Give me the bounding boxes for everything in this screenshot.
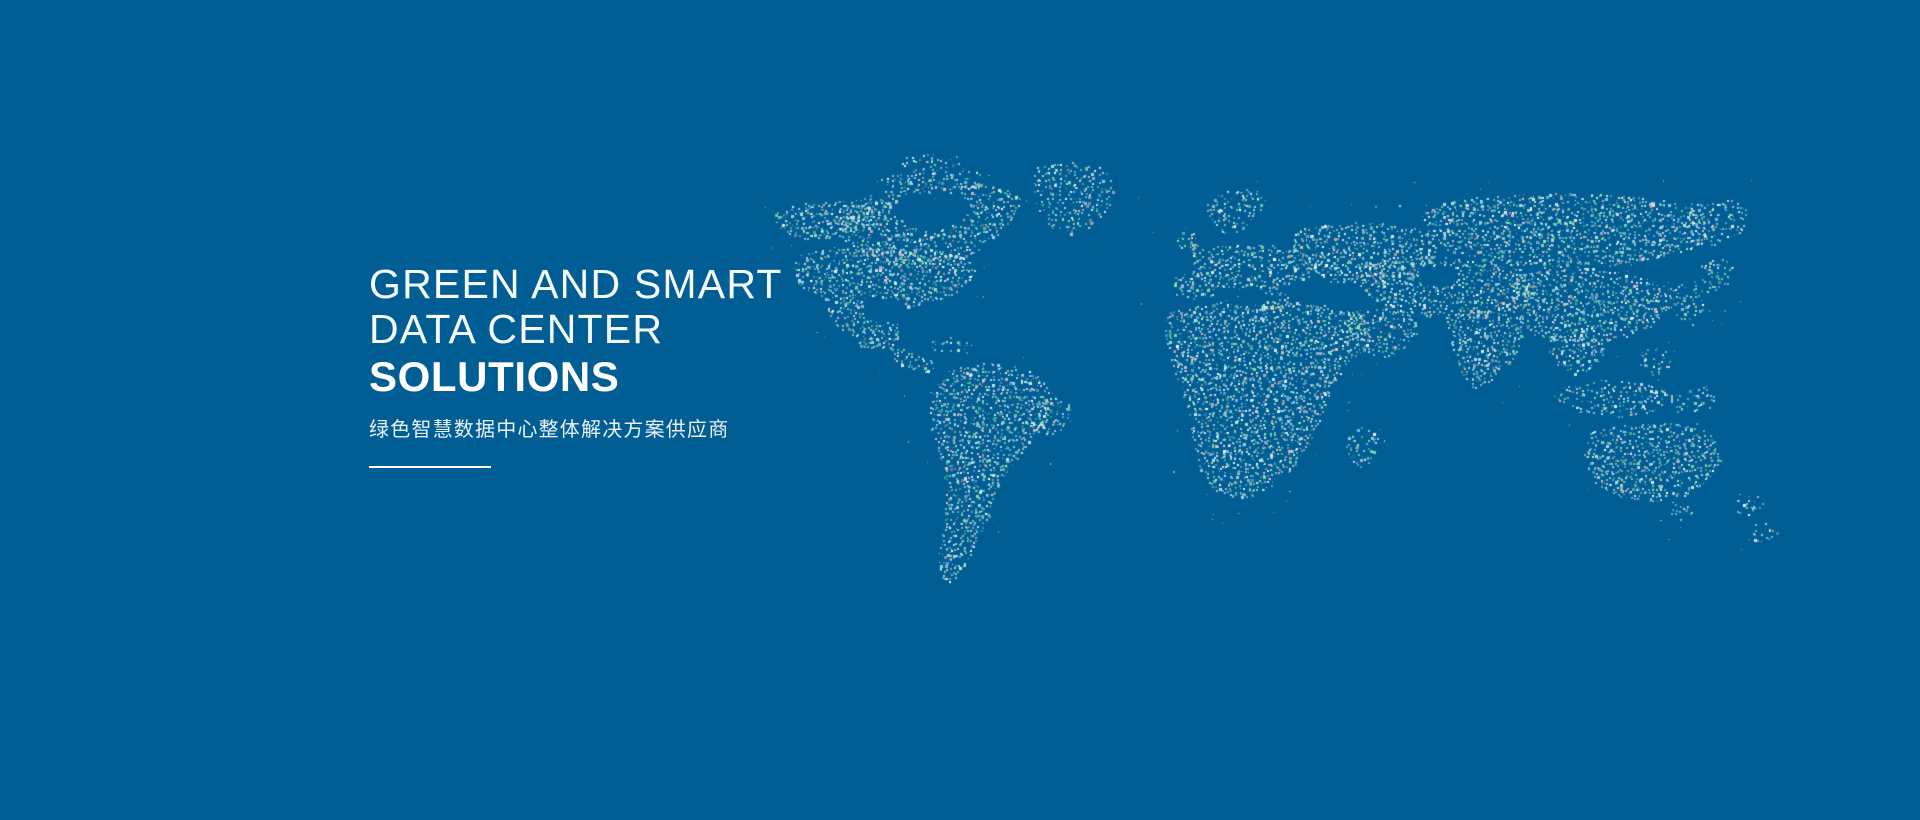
hero-text-block: GREEN AND SMART DATA CENTER SOLUTIONS 绿色… — [369, 262, 1089, 468]
headline-line-3: SOLUTIONS — [369, 352, 1089, 402]
title-underline-rule — [369, 466, 491, 468]
hero-subtitle-chinese: 绿色智慧数据中心整体解决方案供应商 — [369, 416, 1089, 442]
headline-line-1: GREEN AND SMART — [369, 262, 1089, 307]
hero-banner: GREEN AND SMART DATA CENTER SOLUTIONS 绿色… — [0, 0, 1920, 820]
headline-line-2: DATA CENTER — [369, 307, 1089, 352]
